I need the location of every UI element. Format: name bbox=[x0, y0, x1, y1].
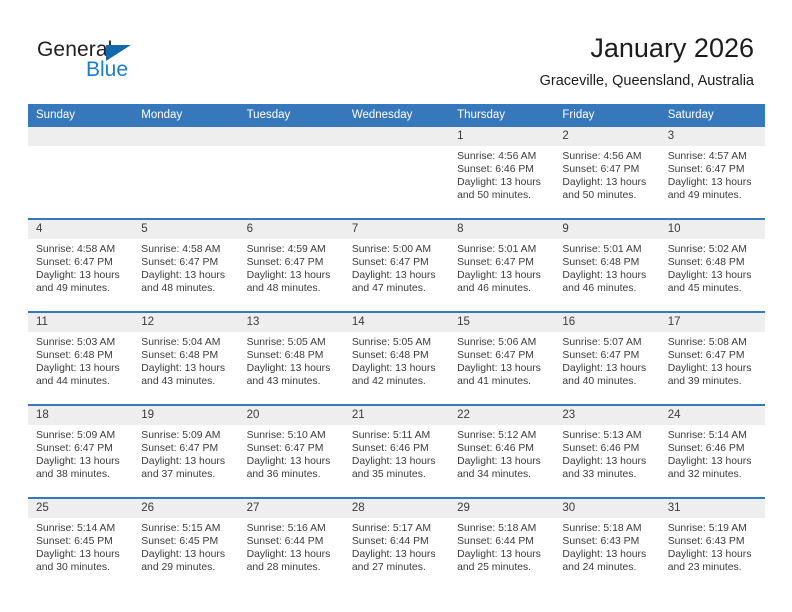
general-blue-logo[interactable]: General Blue bbox=[37, 38, 237, 88]
daylight-text: Daylight: 13 hours bbox=[352, 548, 443, 561]
calendar-table: Sunday Monday Tuesday Wednesday Thursday… bbox=[28, 104, 765, 590]
title-block: January 2026 Graceville, Queensland, Aus… bbox=[540, 32, 754, 90]
daylight-text: Daylight: 13 hours bbox=[457, 176, 548, 189]
weekday-header-wednesday: Wednesday bbox=[344, 104, 449, 127]
day-cell[interactable]: Sunrise: 5:18 AM Sunset: 6:44 PM Dayligh… bbox=[449, 518, 554, 590]
sunset-text: Sunset: 6:47 PM bbox=[457, 256, 548, 269]
day-number[interactable]: 18 bbox=[28, 405, 133, 425]
day-number[interactable]: 6 bbox=[239, 219, 344, 239]
day-number[interactable]: 23 bbox=[554, 405, 659, 425]
daylight-text: Daylight: 13 hours bbox=[141, 269, 232, 282]
sunset-text: Sunset: 6:44 PM bbox=[352, 535, 443, 548]
day-number[interactable]: 19 bbox=[133, 405, 238, 425]
day-cell[interactable]: Sunrise: 5:11 AM Sunset: 6:46 PM Dayligh… bbox=[344, 425, 449, 498]
daylight-text: Daylight: 13 hours bbox=[562, 269, 653, 282]
sunset-text: Sunset: 6:47 PM bbox=[247, 256, 338, 269]
day-cell-empty bbox=[28, 146, 133, 219]
weekday-header-monday: Monday bbox=[133, 104, 238, 127]
day-number[interactable]: 1 bbox=[449, 127, 554, 146]
sunset-text: Sunset: 6:46 PM bbox=[457, 442, 548, 455]
sunset-text: Sunset: 6:47 PM bbox=[141, 256, 232, 269]
day-number[interactable]: 11 bbox=[28, 312, 133, 332]
daylight-text: Daylight: 13 hours bbox=[668, 176, 759, 189]
daylight-text: Daylight: 13 hours bbox=[562, 176, 653, 189]
weekday-header-thursday: Thursday bbox=[449, 104, 554, 127]
sunset-text: Sunset: 6:46 PM bbox=[562, 442, 653, 455]
day-cell[interactable]: Sunrise: 5:13 AM Sunset: 6:46 PM Dayligh… bbox=[554, 425, 659, 498]
week-number-row: 11 12 13 14 15 16 17 bbox=[28, 312, 765, 332]
daylight-text-cont: and 46 minutes. bbox=[562, 282, 653, 295]
weekday-header-tuesday: Tuesday bbox=[239, 104, 344, 127]
sunrise-text: Sunrise: 5:04 AM bbox=[141, 336, 232, 349]
sunset-text: Sunset: 6:47 PM bbox=[668, 163, 759, 176]
sunrise-text: Sunrise: 5:14 AM bbox=[668, 429, 759, 442]
sunset-text: Sunset: 6:45 PM bbox=[141, 535, 232, 548]
sunset-text: Sunset: 6:47 PM bbox=[668, 349, 759, 362]
sunrise-text: Sunrise: 5:09 AM bbox=[36, 429, 127, 442]
day-cell[interactable]: Sunrise: 5:09 AM Sunset: 6:47 PM Dayligh… bbox=[133, 425, 238, 498]
sunset-text: Sunset: 6:48 PM bbox=[141, 349, 232, 362]
daylight-text-cont: and 43 minutes. bbox=[247, 375, 338, 388]
day-cell[interactable]: Sunrise: 5:06 AM Sunset: 6:47 PM Dayligh… bbox=[449, 332, 554, 405]
daylight-text-cont: and 50 minutes. bbox=[457, 189, 548, 202]
sunset-text: Sunset: 6:48 PM bbox=[36, 349, 127, 362]
daylight-text: Daylight: 13 hours bbox=[141, 362, 232, 375]
page-title: January 2026 bbox=[540, 32, 754, 64]
daylight-text-cont: and 41 minutes. bbox=[457, 375, 548, 388]
sunrise-text: Sunrise: 4:58 AM bbox=[141, 243, 232, 256]
day-number[interactable]: 15 bbox=[449, 312, 554, 332]
daylight-text: Daylight: 13 hours bbox=[36, 455, 127, 468]
day-cell[interactable]: Sunrise: 5:05 AM Sunset: 6:48 PM Dayligh… bbox=[344, 332, 449, 405]
day-number[interactable]: 3 bbox=[660, 127, 765, 146]
day-number[interactable]: 20 bbox=[239, 405, 344, 425]
day-cell[interactable]: Sunrise: 5:02 AM Sunset: 6:48 PM Dayligh… bbox=[660, 239, 765, 312]
day-cell[interactable]: Sunrise: 4:59 AM Sunset: 6:47 PM Dayligh… bbox=[239, 239, 344, 312]
day-number[interactable]: 21 bbox=[344, 405, 449, 425]
sunset-text: Sunset: 6:45 PM bbox=[36, 535, 127, 548]
sunrise-text: Sunrise: 5:15 AM bbox=[141, 522, 232, 535]
sunset-text: Sunset: 6:44 PM bbox=[457, 535, 548, 548]
sunset-text: Sunset: 6:47 PM bbox=[562, 349, 653, 362]
day-cell[interactable]: Sunrise: 5:01 AM Sunset: 6:48 PM Dayligh… bbox=[554, 239, 659, 312]
weekday-header-friday: Friday bbox=[554, 104, 659, 127]
day-cell[interactable]: Sunrise: 5:17 AM Sunset: 6:44 PM Dayligh… bbox=[344, 518, 449, 590]
sunrise-text: Sunrise: 5:08 AM bbox=[668, 336, 759, 349]
page-header: General Blue January 2026 Graceville, Qu… bbox=[0, 0, 792, 100]
day-number[interactable]: 5 bbox=[133, 219, 238, 239]
sunrise-text: Sunrise: 5:02 AM bbox=[668, 243, 759, 256]
sunrise-text: Sunrise: 5:14 AM bbox=[36, 522, 127, 535]
sunrise-text: Sunrise: 5:06 AM bbox=[457, 336, 548, 349]
page-subtitle: Graceville, Queensland, Australia bbox=[540, 72, 754, 90]
day-cell[interactable]: Sunrise: 5:14 AM Sunset: 6:46 PM Dayligh… bbox=[660, 425, 765, 498]
week-detail-row: Sunrise: 5:09 AM Sunset: 6:47 PM Dayligh… bbox=[28, 425, 765, 498]
weekday-header-row: Sunday Monday Tuesday Wednesday Thursday… bbox=[28, 104, 765, 127]
sunset-text: Sunset: 6:43 PM bbox=[668, 535, 759, 548]
sunrise-text: Sunrise: 5:17 AM bbox=[352, 522, 443, 535]
sunrise-text: Sunrise: 4:56 AM bbox=[562, 150, 653, 163]
sunrise-text: Sunrise: 5:18 AM bbox=[562, 522, 653, 535]
sunset-text: Sunset: 6:43 PM bbox=[562, 535, 653, 548]
daylight-text: Daylight: 13 hours bbox=[457, 548, 548, 561]
sunset-text: Sunset: 6:48 PM bbox=[562, 256, 653, 269]
day-cell[interactable]: Sunrise: 4:56 AM Sunset: 6:47 PM Dayligh… bbox=[554, 146, 659, 219]
daylight-text: Daylight: 13 hours bbox=[457, 269, 548, 282]
day-cell[interactable]: Sunrise: 5:03 AM Sunset: 6:48 PM Dayligh… bbox=[28, 332, 133, 405]
daylight-text-cont: and 30 minutes. bbox=[36, 561, 127, 574]
day-number[interactable]: 30 bbox=[554, 498, 659, 518]
calendar-grid: Sunday Monday Tuesday Wednesday Thursday… bbox=[28, 104, 765, 590]
sunset-text: Sunset: 6:47 PM bbox=[562, 163, 653, 176]
daylight-text-cont: and 47 minutes. bbox=[352, 282, 443, 295]
day-number[interactable]: 28 bbox=[344, 498, 449, 518]
sunrise-text: Sunrise: 5:05 AM bbox=[352, 336, 443, 349]
day-number[interactable]: 27 bbox=[239, 498, 344, 518]
daylight-text: Daylight: 13 hours bbox=[352, 362, 443, 375]
day-number[interactable]: 14 bbox=[344, 312, 449, 332]
daylight-text: Daylight: 13 hours bbox=[247, 455, 338, 468]
daylight-text-cont: and 24 minutes. bbox=[562, 561, 653, 574]
daylight-text: Daylight: 13 hours bbox=[247, 548, 338, 561]
day-number[interactable]: 7 bbox=[344, 219, 449, 239]
daylight-text-cont: and 32 minutes. bbox=[668, 468, 759, 481]
sunrise-text: Sunrise: 5:01 AM bbox=[457, 243, 548, 256]
sunset-text: Sunset: 6:47 PM bbox=[141, 442, 232, 455]
daylight-text-cont: and 27 minutes. bbox=[352, 561, 443, 574]
daylight-text-cont: and 25 minutes. bbox=[457, 561, 548, 574]
week-number-row: 4 5 6 7 8 9 10 bbox=[28, 219, 765, 239]
daylight-text-cont: and 37 minutes. bbox=[141, 468, 232, 481]
sunrise-text: Sunrise: 5:01 AM bbox=[562, 243, 653, 256]
sunset-text: Sunset: 6:47 PM bbox=[352, 256, 443, 269]
sunset-text: Sunset: 6:46 PM bbox=[352, 442, 443, 455]
sunrise-text: Sunrise: 5:13 AM bbox=[562, 429, 653, 442]
sunset-text: Sunset: 6:46 PM bbox=[668, 442, 759, 455]
daylight-text: Daylight: 13 hours bbox=[36, 548, 127, 561]
daylight-text-cont: and 48 minutes. bbox=[247, 282, 338, 295]
sunrise-text: Sunrise: 4:56 AM bbox=[457, 150, 548, 163]
day-number[interactable]: 22 bbox=[449, 405, 554, 425]
daylight-text: Daylight: 13 hours bbox=[562, 362, 653, 375]
day-cell[interactable]: Sunrise: 4:58 AM Sunset: 6:47 PM Dayligh… bbox=[133, 239, 238, 312]
sunrise-text: Sunrise: 5:18 AM bbox=[457, 522, 548, 535]
sunrise-text: Sunrise: 5:16 AM bbox=[247, 522, 338, 535]
daylight-text: Daylight: 13 hours bbox=[247, 269, 338, 282]
daylight-text-cont: and 38 minutes. bbox=[36, 468, 127, 481]
daylight-text-cont: and 46 minutes. bbox=[457, 282, 548, 295]
day-number[interactable]: 13 bbox=[239, 312, 344, 332]
day-cell-empty bbox=[344, 146, 449, 219]
daylight-text-cont: and 39 minutes. bbox=[668, 375, 759, 388]
day-cell[interactable]: Sunrise: 4:58 AM Sunset: 6:47 PM Dayligh… bbox=[28, 239, 133, 312]
day-number[interactable]: 24 bbox=[660, 405, 765, 425]
day-cell[interactable]: Sunrise: 4:56 AM Sunset: 6:46 PM Dayligh… bbox=[449, 146, 554, 219]
day-number[interactable]: 31 bbox=[660, 498, 765, 518]
sunrise-text: Sunrise: 5:12 AM bbox=[457, 429, 548, 442]
daylight-text-cont: and 35 minutes. bbox=[352, 468, 443, 481]
day-number[interactable]: 8 bbox=[449, 219, 554, 239]
day-cell[interactable]: Sunrise: 5:09 AM Sunset: 6:47 PM Dayligh… bbox=[28, 425, 133, 498]
day-cell[interactable]: Sunrise: 5:10 AM Sunset: 6:47 PM Dayligh… bbox=[239, 425, 344, 498]
day-cell[interactable]: Sunrise: 5:18 AM Sunset: 6:43 PM Dayligh… bbox=[554, 518, 659, 590]
daylight-text: Daylight: 13 hours bbox=[562, 548, 653, 561]
sunrise-text: Sunrise: 4:57 AM bbox=[668, 150, 759, 163]
day-cell[interactable]: Sunrise: 5:16 AM Sunset: 6:44 PM Dayligh… bbox=[239, 518, 344, 590]
day-number[interactable]: 25 bbox=[28, 498, 133, 518]
sunset-text: Sunset: 6:46 PM bbox=[457, 163, 548, 176]
logo-text-blue: Blue bbox=[86, 58, 128, 82]
day-number[interactable] bbox=[28, 127, 133, 146]
daylight-text-cont: and 36 minutes. bbox=[247, 468, 338, 481]
week-number-row: 18 19 20 21 22 23 24 bbox=[28, 405, 765, 425]
day-cell[interactable]: Sunrise: 5:07 AM Sunset: 6:47 PM Dayligh… bbox=[554, 332, 659, 405]
sunset-text: Sunset: 6:48 PM bbox=[668, 256, 759, 269]
day-cell-empty bbox=[133, 146, 238, 219]
day-number[interactable] bbox=[344, 127, 449, 146]
day-number[interactable]: 2 bbox=[554, 127, 659, 146]
day-number[interactable]: 9 bbox=[554, 219, 659, 239]
calendar-page: General Blue January 2026 Graceville, Qu… bbox=[0, 0, 792, 612]
day-number[interactable]: 4 bbox=[28, 219, 133, 239]
day-cell[interactable]: Sunrise: 5:15 AM Sunset: 6:45 PM Dayligh… bbox=[133, 518, 238, 590]
daylight-text: Daylight: 13 hours bbox=[457, 455, 548, 468]
day-number[interactable]: 26 bbox=[133, 498, 238, 518]
sunrise-text: Sunrise: 5:10 AM bbox=[247, 429, 338, 442]
day-number[interactable]: 29 bbox=[449, 498, 554, 518]
week-number-row: 1 2 3 bbox=[28, 127, 765, 146]
sunrise-text: Sunrise: 5:05 AM bbox=[247, 336, 338, 349]
daylight-text-cont: and 40 minutes. bbox=[562, 375, 653, 388]
daylight-text-cont: and 29 minutes. bbox=[141, 561, 232, 574]
sunrise-text: Sunrise: 5:11 AM bbox=[352, 429, 443, 442]
daylight-text: Daylight: 13 hours bbox=[141, 455, 232, 468]
day-cell[interactable]: Sunrise: 5:00 AM Sunset: 6:47 PM Dayligh… bbox=[344, 239, 449, 312]
calendar-body: 1 2 3 Sunrise: 4:56 AM Sunset: 6:46 PM D… bbox=[28, 127, 765, 590]
daylight-text-cont: and 28 minutes. bbox=[247, 561, 338, 574]
sunrise-text: Sunrise: 5:09 AM bbox=[141, 429, 232, 442]
week-detail-row: Sunrise: 4:56 AM Sunset: 6:46 PM Dayligh… bbox=[28, 146, 765, 219]
day-cell[interactable]: Sunrise: 5:19 AM Sunset: 6:43 PM Dayligh… bbox=[660, 518, 765, 590]
sunrise-text: Sunrise: 5:19 AM bbox=[668, 522, 759, 535]
daylight-text-cont: and 48 minutes. bbox=[141, 282, 232, 295]
sunset-text: Sunset: 6:48 PM bbox=[247, 349, 338, 362]
daylight-text: Daylight: 13 hours bbox=[668, 455, 759, 468]
daylight-text-cont: and 50 minutes. bbox=[562, 189, 653, 202]
day-cell[interactable]: Sunrise: 5:12 AM Sunset: 6:46 PM Dayligh… bbox=[449, 425, 554, 498]
day-cell[interactable]: Sunrise: 4:57 AM Sunset: 6:47 PM Dayligh… bbox=[660, 146, 765, 219]
daylight-text: Daylight: 13 hours bbox=[668, 362, 759, 375]
day-cell[interactable]: Sunrise: 5:01 AM Sunset: 6:47 PM Dayligh… bbox=[449, 239, 554, 312]
daylight-text-cont: and 49 minutes. bbox=[668, 189, 759, 202]
sunrise-text: Sunrise: 5:03 AM bbox=[36, 336, 127, 349]
daylight-text: Daylight: 13 hours bbox=[36, 362, 127, 375]
sunset-text: Sunset: 6:44 PM bbox=[247, 535, 338, 548]
day-number[interactable]: 16 bbox=[554, 312, 659, 332]
sunset-text: Sunset: 6:47 PM bbox=[457, 349, 548, 362]
day-cell[interactable]: Sunrise: 5:05 AM Sunset: 6:48 PM Dayligh… bbox=[239, 332, 344, 405]
day-cell-empty bbox=[239, 146, 344, 219]
daylight-text: Daylight: 13 hours bbox=[668, 269, 759, 282]
week-detail-row: Sunrise: 5:03 AM Sunset: 6:48 PM Dayligh… bbox=[28, 332, 765, 405]
sunset-text: Sunset: 6:47 PM bbox=[247, 442, 338, 455]
daylight-text-cont: and 45 minutes. bbox=[668, 282, 759, 295]
day-number[interactable]: 12 bbox=[133, 312, 238, 332]
daylight-text: Daylight: 13 hours bbox=[352, 269, 443, 282]
daylight-text-cont: and 42 minutes. bbox=[352, 375, 443, 388]
daylight-text: Daylight: 13 hours bbox=[352, 455, 443, 468]
daylight-text: Daylight: 13 hours bbox=[36, 269, 127, 282]
day-number[interactable]: 17 bbox=[660, 312, 765, 332]
day-cell[interactable]: Sunrise: 5:08 AM Sunset: 6:47 PM Dayligh… bbox=[660, 332, 765, 405]
day-number[interactable] bbox=[133, 127, 238, 146]
sunset-text: Sunset: 6:47 PM bbox=[36, 442, 127, 455]
daylight-text-cont: and 34 minutes. bbox=[457, 468, 548, 481]
weekday-header-saturday: Saturday bbox=[660, 104, 765, 127]
daylight-text-cont: and 43 minutes. bbox=[141, 375, 232, 388]
sunrise-text: Sunrise: 5:07 AM bbox=[562, 336, 653, 349]
daylight-text: Daylight: 13 hours bbox=[668, 548, 759, 561]
week-detail-row: Sunrise: 5:14 AM Sunset: 6:45 PM Dayligh… bbox=[28, 518, 765, 590]
sunset-text: Sunset: 6:47 PM bbox=[36, 256, 127, 269]
sunrise-text: Sunrise: 4:58 AM bbox=[36, 243, 127, 256]
day-cell[interactable]: Sunrise: 5:04 AM Sunset: 6:48 PM Dayligh… bbox=[133, 332, 238, 405]
week-detail-row: Sunrise: 4:58 AM Sunset: 6:47 PM Dayligh… bbox=[28, 239, 765, 312]
daylight-text: Daylight: 13 hours bbox=[562, 455, 653, 468]
day-number[interactable]: 10 bbox=[660, 219, 765, 239]
daylight-text-cont: and 49 minutes. bbox=[36, 282, 127, 295]
daylight-text-cont: and 33 minutes. bbox=[562, 468, 653, 481]
sunrise-text: Sunrise: 5:00 AM bbox=[352, 243, 443, 256]
day-cell[interactable]: Sunrise: 5:14 AM Sunset: 6:45 PM Dayligh… bbox=[28, 518, 133, 590]
day-number[interactable] bbox=[239, 127, 344, 146]
sunset-text: Sunset: 6:48 PM bbox=[352, 349, 443, 362]
week-number-row: 25 26 27 28 29 30 31 bbox=[28, 498, 765, 518]
weekday-header-sunday: Sunday bbox=[28, 104, 133, 127]
daylight-text: Daylight: 13 hours bbox=[457, 362, 548, 375]
daylight-text: Daylight: 13 hours bbox=[141, 548, 232, 561]
daylight-text: Daylight: 13 hours bbox=[247, 362, 338, 375]
daylight-text-cont: and 23 minutes. bbox=[668, 561, 759, 574]
daylight-text-cont: and 44 minutes. bbox=[36, 375, 127, 388]
sunrise-text: Sunrise: 4:59 AM bbox=[247, 243, 338, 256]
